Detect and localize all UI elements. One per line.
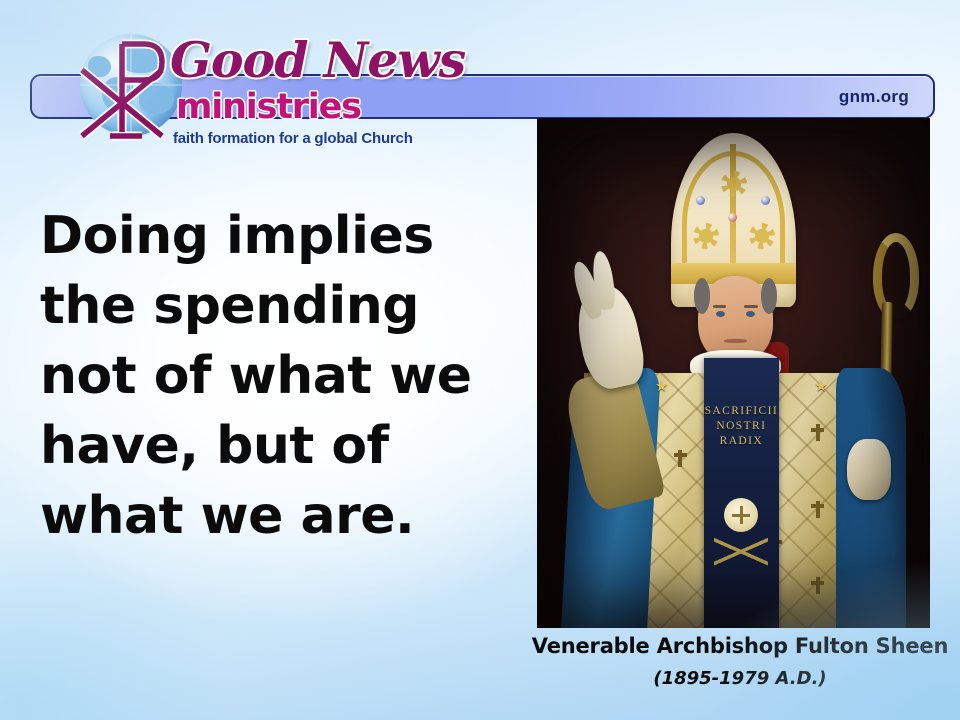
- quote-line: not of what we: [40, 341, 500, 411]
- vestment-orphrey-panel: SACRIFICII NOSTRI RADIX: [704, 358, 779, 628]
- host-emblem-icon: [724, 498, 758, 532]
- quote-line: have, but of: [40, 411, 500, 481]
- caption-dates: (1895-1979 A.D.): [520, 668, 960, 689]
- vestment-inscription: SACRIFICII NOSTRI RADIX: [704, 404, 779, 449]
- portrait-photo: ★★★ SACRIFICII NOSTRI RADIX: [537, 118, 930, 628]
- crozier-icon: [873, 233, 919, 319]
- site-url-label[interactable]: gnm.org: [839, 87, 909, 107]
- wheat-emblem-icon: [714, 531, 768, 571]
- gloved-hand: [847, 439, 890, 500]
- quote-line: Doing implies: [40, 201, 500, 271]
- brand-tagline: faith formation for a global Church: [173, 130, 413, 147]
- quote-line: what we are.: [40, 481, 500, 551]
- brand-sub-name: ministries: [176, 90, 361, 125]
- chi-rho-icon: [70, 36, 182, 144]
- gnm-logo[interactable]: Good News ministries faith formation for…: [34, 14, 434, 136]
- inscription-line: SACRIFICII: [704, 404, 779, 419]
- brand-script-name: Good News: [170, 36, 465, 85]
- quote-line: the spending: [40, 271, 500, 341]
- quote-text: Doing implies the spending not of what w…: [40, 201, 500, 551]
- slide-canvas: gnm.org Good News ministries faith forma…: [0, 0, 960, 720]
- inscription-line: NOSTRI: [704, 419, 779, 434]
- inscription-line: RADIX: [704, 434, 779, 449]
- caption-name: Venerable Archbishop Fulton Sheen: [520, 634, 960, 658]
